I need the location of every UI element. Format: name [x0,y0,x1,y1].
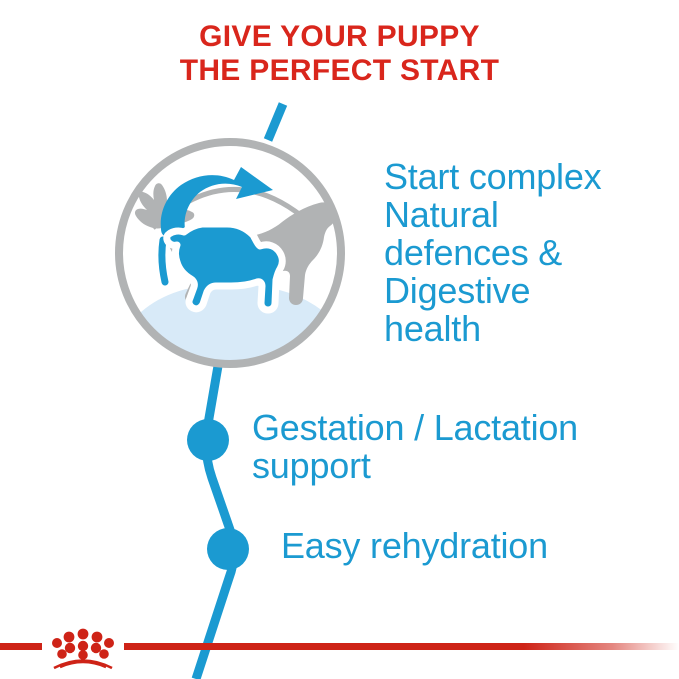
feature-2-line-2: support [252,447,578,485]
feature-easy-rehydration: Easy rehydration [281,527,548,565]
feature-gestation-lactation-support: Gestation / Lactation support [252,409,578,485]
arrow-tail-tick [162,240,165,282]
connector-dot-1 [187,419,229,461]
feature-1-line-5: health [384,310,601,348]
feature-2-line-1: Gestation / Lactation [252,409,578,447]
feature-3-line-1: Easy rehydration [281,527,548,565]
feature-start-complex: Start complex Natural defences & Digesti… [384,158,601,348]
connector-segment-top [268,104,283,140]
royal-canin-crown-logo [44,626,122,670]
connector-dot-2 [207,528,249,570]
feature-1-line-1: Start complex [384,158,601,196]
feature-1-line-4: Digestive [384,272,601,310]
feature-1-line-2: Natural [384,196,601,234]
brand-bar [0,616,679,679]
growth-icon [113,136,347,370]
feature-1-line-3: defences & [384,234,601,272]
brand-rule-right [124,643,679,650]
promo-panel: GIVE YOUR PUPPY THE PERFECT START [0,0,679,679]
brand-rule-left [0,643,42,650]
